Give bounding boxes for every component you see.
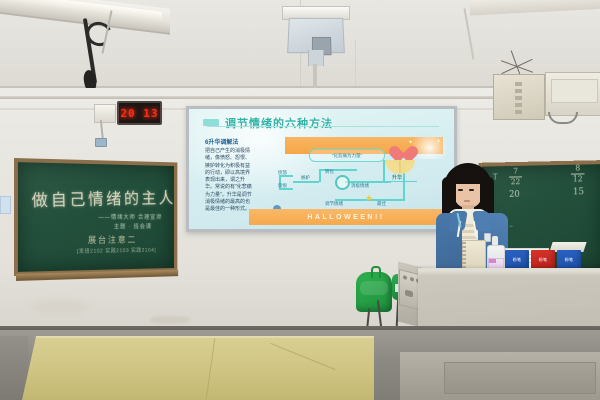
- wall-outlet: [95, 138, 107, 147]
- blackboard-left: 做自己情绪的主人 ——情绪大师 合理宣泄 主题 · 班会课 展台注意二 [发班2…: [14, 158, 177, 276]
- hand-sanitizer-bottle: [487, 236, 503, 270]
- hands-divider: [399, 161, 401, 173]
- clock-time: 20 13: [120, 107, 158, 120]
- blackboard-right-fraction-2: 8 12: [571, 164, 585, 184]
- fraction-denominator: 12: [571, 176, 585, 184]
- teaching-platform: [22, 336, 374, 400]
- slide-title: 调节情绪的六种方法: [225, 115, 333, 131]
- mindmap-star-icon: ★: [365, 194, 373, 203]
- mindmap-node-label: 调节情绪: [325, 201, 343, 207]
- blackboard-left-midline: 展台注意二: [88, 233, 137, 246]
- projection-screen-frame: 调节情绪的六种方法 ✦ ✧ ✦ 6升华调解法 把自己产生的消极情绪，像愤怒、怨恨…: [186, 106, 457, 232]
- eye-right: [469, 189, 474, 191]
- lectern-top-edge: [418, 270, 600, 276]
- mouth: [464, 200, 470, 202]
- graphic-label: 升华: [392, 174, 402, 181]
- chalk-box-blue-2: 粉笔: [557, 250, 581, 270]
- fraction-denominator: 22: [509, 179, 522, 187]
- led-wall-clock: 20 13: [117, 101, 162, 125]
- blackboard-left-smallline: [发班2102 实践2103 实践2104]: [77, 246, 156, 255]
- blackboard-right-value-1: 20: [509, 191, 520, 200]
- chalk-box-red: 粉笔: [531, 250, 555, 270]
- slide-banner-text: HALLOWEEN!!: [307, 214, 384, 221]
- heart-in-hands-graphic: 升华: [385, 147, 419, 181]
- lectern-base: [400, 352, 600, 400]
- mindmap-bubble: "化悲痛为力量": [309, 149, 385, 162]
- backpack-flap: [360, 281, 388, 295]
- blackboard-left-subtitle-1: ——情绪大师 合理宣泄: [98, 212, 162, 221]
- wall-smudge: [30, 300, 90, 314]
- notebook-spiral: [462, 242, 466, 270]
- projector-body: [287, 18, 345, 53]
- classroom-photo: 20 13 调节情绪的六种方法 ✦ ✧ ✦: [0, 0, 600, 400]
- mindmap-node-circle: [335, 175, 350, 190]
- mindmap-node-label: 转化: [325, 169, 334, 175]
- wall-antenna: [500, 58, 534, 74]
- sanitizer-label-accent: [489, 259, 496, 263]
- chalk-box-blue-1: 粉笔: [505, 250, 529, 270]
- blackboard-right-fraction-1: 7 22: [509, 168, 522, 187]
- fraction-numerator: 7: [509, 168, 522, 176]
- blackboard-right-value-2: 15: [573, 188, 584, 197]
- lectern-drawer[interactable]: [444, 362, 596, 394]
- backpack-strap: [371, 266, 381, 278]
- box-label: 粉笔: [507, 257, 527, 263]
- blackboard-left-subtitle-2: 主题 · 班会课: [114, 222, 152, 231]
- wall-notice: [0, 196, 11, 214]
- slide-body-text: 把自己产生的消极情绪，像愤怒、怨恨、嫉妒转化为积极有益的行动，即以高境界表现出来…: [205, 148, 253, 213]
- eye-left: [458, 189, 463, 191]
- mindmap-node-label: 最佳: [377, 201, 386, 207]
- speaker-panel: [551, 79, 598, 103]
- ceiling-seam-vertical: [355, 40, 356, 88]
- blackboard-right-stray-mark: ~: [509, 224, 513, 231]
- floor-left-edge: [0, 336, 28, 400]
- box-label: 粉笔: [533, 257, 553, 263]
- mindmap-node-label: 愤怒: [278, 170, 287, 176]
- slide-tag-icon: [203, 119, 219, 126]
- wall-speaker: [545, 72, 600, 116]
- fraction-numerator: 8: [571, 164, 585, 173]
- box-label: 粉笔: [559, 257, 579, 263]
- blackboard-left-title: 做自己情绪的主人: [31, 185, 176, 212]
- mindmap-node-label: 消极情绪: [351, 183, 369, 189]
- green-backpack: [356, 272, 392, 312]
- slide-section-heading: 6升华调解法: [205, 137, 253, 146]
- wall-mark: [150, 316, 190, 324]
- mindmap-node-label: 嫉妒: [301, 175, 310, 181]
- slide-text-column: 6升华调解法 把自己产生的消极情绪，像愤怒、怨恨、嫉妒转化为积极有益的行动，即以…: [205, 137, 253, 213]
- mindmap-node-label: 怨恨: [278, 183, 287, 189]
- ceiling-projector: [282, 6, 348, 50]
- projector-pole: [313, 64, 317, 90]
- wall-junction-box: [94, 104, 116, 123]
- slide-title-rule: [207, 126, 439, 127]
- projection-screen: 调节情绪的六种方法 ✦ ✧ ✦ 6升华调解法 把自己产生的消极情绪，像愤怒、怨恨…: [189, 109, 454, 229]
- slide-orange-banner-bottom: HALLOWEEN!!: [249, 209, 443, 225]
- wall-control-box[interactable]: [493, 74, 545, 120]
- slide-header: 调节情绪的六种方法: [203, 115, 443, 131]
- graphic-underline: [387, 181, 417, 182]
